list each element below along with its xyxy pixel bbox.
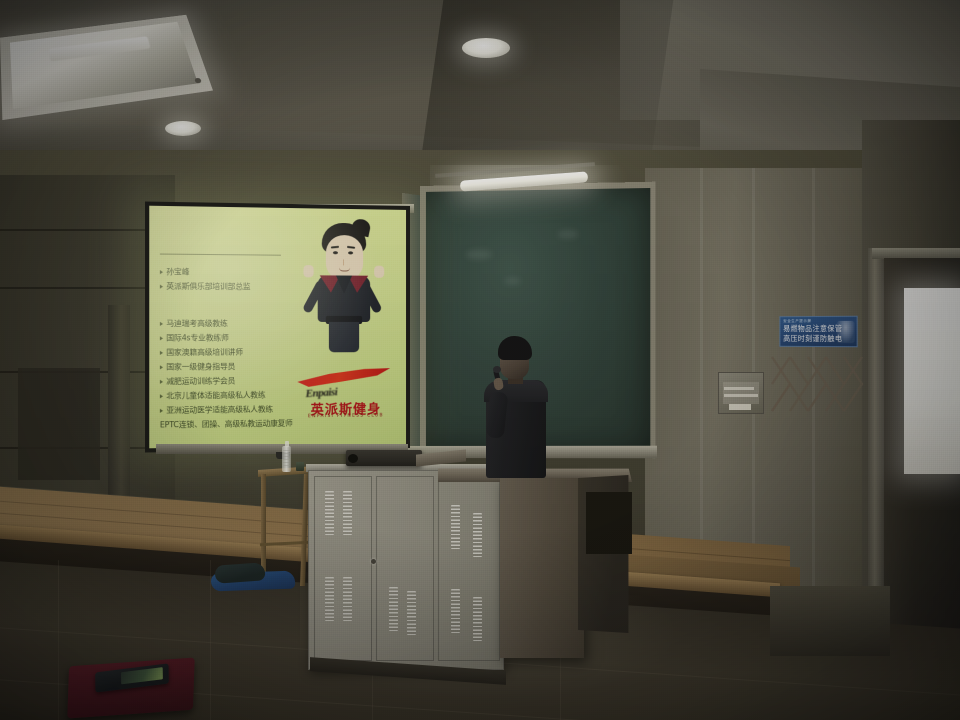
cabinet-door[interactable] [314, 476, 372, 661]
downlight-icon-right [462, 38, 510, 58]
electric-hazard-icon [837, 321, 855, 343]
projector-unit [346, 450, 422, 466]
bullet-icon [160, 270, 163, 274]
cabinet-door[interactable] [376, 476, 434, 661]
light-panel-inner [10, 22, 198, 109]
bullet-icon [160, 379, 163, 383]
cup [296, 462, 304, 471]
podium [500, 478, 584, 658]
water-bottle [282, 446, 291, 472]
bullet-icon [160, 365, 163, 369]
slide-bullet-text: 国家澳籍高级培训讲师 [166, 347, 243, 358]
cabinet-door[interactable] [438, 476, 500, 661]
presenter-hand [493, 377, 504, 390]
presenter [478, 336, 552, 478]
slide-bullet-text: 马迪瑞考高级教练 [166, 318, 227, 328]
right-baseboard [770, 586, 890, 656]
caricature-hand-right [374, 266, 384, 278]
caricature-hand-left [303, 265, 313, 277]
presenter-hair [498, 336, 532, 360]
slide-bullet-text: 国家一级健身指导员 [166, 361, 235, 372]
light-panel-tube [49, 36, 151, 61]
slide-bullet-text: 减肥运动训练学会员 [166, 376, 235, 387]
brand-logo: Enpaisi 英派斯健身 ENPAISI FITNESS CLUB [291, 366, 400, 428]
slide-bullet-text: EPTC连锁、团操、高级私教运动康复师 [160, 418, 293, 430]
bullet-icon [160, 408, 163, 412]
bullet-icon [160, 336, 163, 340]
cabinet-lock-icon[interactable] [371, 559, 376, 564]
bag-top [214, 562, 265, 583]
slide-bullet-text: 孙宝峰 [166, 266, 189, 277]
caricature-legs [329, 322, 359, 352]
bullet-icon [160, 284, 163, 288]
slide-bullet-text: 亚洲运动医学适能高级私人教练 [166, 404, 273, 415]
accordion-gate [770, 355, 866, 413]
projector-lens-icon [348, 454, 358, 463]
bullet-icon [160, 350, 163, 354]
control-panel-label [729, 404, 751, 410]
slide-bullet-text: 英派斯俱乐部培训部总监 [166, 281, 250, 292]
phone-screen [121, 667, 163, 684]
slide-bullet-text: 北京儿童体适能高级私人教练 [166, 390, 265, 401]
wall-control-panel[interactable] [718, 372, 764, 414]
caricature-illustration [295, 216, 392, 356]
slide-surface: 孙宝峰 英派斯俱乐部培训部总监 马迪瑞考高级教练 国际4s专业教练师 [149, 206, 406, 449]
left-pillar [108, 305, 130, 520]
podium-shelf [586, 492, 632, 554]
bullet-icon [160, 394, 163, 398]
door-glass-panel [904, 288, 960, 474]
left-wall-recess [18, 368, 100, 480]
glass-door[interactable] [884, 258, 960, 630]
caricature-face [326, 235, 363, 280]
logo-english-text: ENPAISI FITNESS CLUB [293, 413, 398, 419]
duffel-bag [205, 560, 295, 592]
downlight-icon-left [165, 121, 201, 136]
microphone-head-icon [493, 366, 501, 373]
slide-divider [160, 254, 281, 256]
bullet-icon [160, 321, 163, 325]
photo-scene: 孙宝峰 英派斯俱乐部培训部总监 马迪瑞考高级教练 国际4s专业教练师 [0, 0, 960, 720]
slide-bullet-text: 国际4s专业教练师 [166, 333, 228, 343]
light-panel-screw [194, 78, 202, 84]
projection-screen: 孙宝峰 英派斯俱乐部培训部总监 马迪瑞考高级教练 国际4s专业教练师 [145, 201, 410, 452]
control-panel-face [723, 382, 759, 404]
metal-cabinet[interactable] [308, 470, 504, 670]
safety-sign: 安全生产提示牌 易燃物品注意保管 高压时刻谨防触电 [779, 316, 857, 347]
